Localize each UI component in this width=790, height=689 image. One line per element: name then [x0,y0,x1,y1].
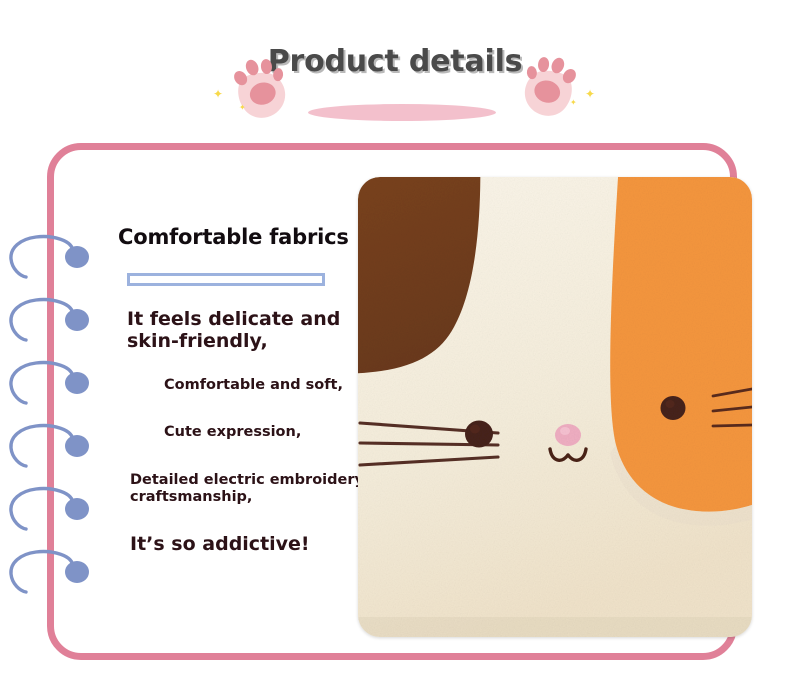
spiral-ring [0,358,96,412]
sparkle-icon: ✦ [213,88,223,100]
spiral-ring [0,421,96,475]
spiral-binding [0,150,120,610]
sparkle-icon: ✦ [585,88,595,100]
product-photo [358,177,752,637]
spiral-ring [0,232,96,286]
feature-item: Detailed electric embroidery craftsmansh… [130,472,368,507]
feature-item: It’s so addictive! [130,533,368,556]
heading-skin-friendly: It feels delicate and skin-friendly, [127,308,368,353]
spiral-ring [0,295,96,349]
heading-comfortable-fabrics: Comfortable fabrics [118,225,368,249]
spiral-ring [0,484,96,538]
page-header: Product details ✦ ✦ ✦ ✦ [0,0,790,140]
title-underline [308,104,496,121]
sparkle-icon: ✦ [570,99,577,107]
feature-item: Comfortable and soft, [164,377,368,394]
spiral-ring [0,547,96,601]
page-title: Product details [0,44,790,79]
feature-text-column: Comfortable fabrics It feels delicate an… [118,225,368,556]
cat-plush-illustration [358,177,752,637]
feature-item: Cute expression, [164,424,368,441]
sparkle-icon: ✦ [239,104,246,112]
divider-box [127,273,325,286]
